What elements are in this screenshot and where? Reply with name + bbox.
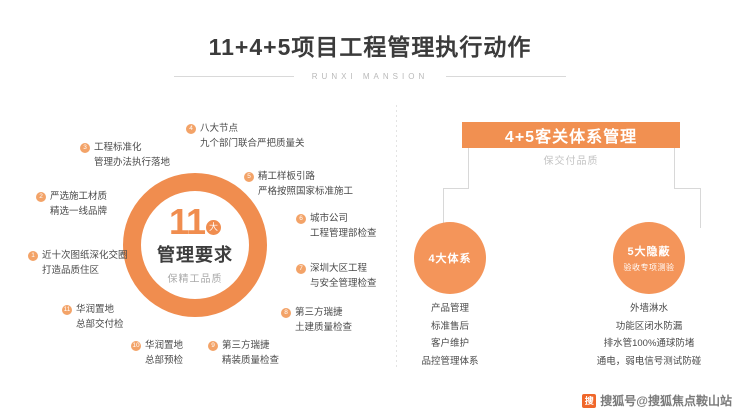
connector-left-horizontal <box>443 188 469 189</box>
item-badge-3: 3 <box>80 143 90 153</box>
item-line1-11: 华润置地 <box>76 303 114 318</box>
item-badge-8: 8 <box>281 308 291 318</box>
branch-list-2-item-3: 排水管100%通球防堵 <box>569 335 729 353</box>
item-badge-5: 5 <box>244 172 254 182</box>
item-badge-1: 1 <box>28 251 38 261</box>
callout-item-10: 10华润置地 总部预检 <box>131 339 183 368</box>
branch-list-1-item-3: 客户维护 <box>400 335 500 353</box>
item-line2-9: 精装质量检查 <box>208 354 279 369</box>
item-line2-8: 土建质量检查 <box>281 321 352 336</box>
subtitle-text: RUNXI MANSION <box>312 72 428 81</box>
branch-circle-2-line1: 5大隐蔽 <box>627 243 670 259</box>
item-line2-10: 总部预检 <box>131 354 183 369</box>
callout-item-5: 5精工样板引路 严格按照国家标准施工 <box>244 170 353 199</box>
item-line1-1: 近十次图纸深化交圈 <box>42 249 128 264</box>
item-line1-6: 城市公司 <box>310 212 348 227</box>
callout-item-6: 6城市公司 工程管理部检查 <box>296 212 377 241</box>
branch-list-2-item-2: 功能区闭水防漏 <box>569 318 729 336</box>
connector-right-drop <box>674 148 675 188</box>
item-badge-6: 6 <box>296 214 306 224</box>
callout-item-7: 7深圳大区工程 与安全管理检查 <box>296 262 377 291</box>
page-title: 11+4+5项目工程管理执行动作 <box>0 28 740 62</box>
item-line1-3: 工程标准化 <box>94 141 142 156</box>
right-panel-subtitle: 保交付品质 <box>462 152 680 167</box>
item-line2-5: 严格按照国家标准施工 <box>244 185 353 200</box>
item-badge-9: 9 <box>208 341 218 351</box>
ring-number: 11 <box>169 205 205 239</box>
watermark-text: 搜狐号@搜狐焦点鞍山站 <box>600 392 732 409</box>
callout-item-3: 3工程标准化 管理办法执行落地 <box>80 141 170 170</box>
right-panel-header: 4+5客关体系管理 <box>462 122 680 148</box>
subtitle-row: RUNXI MANSION <box>0 72 740 81</box>
branch-list-1-item-1: 产品管理 <box>400 300 500 318</box>
slide-canvas: 11+4+5项目工程管理执行动作 RUNXI MANSION 11 大 管理要求… <box>0 0 740 417</box>
item-line1-8: 第三方瑞捷 <box>295 306 343 321</box>
item-line1-5: 精工样板引路 <box>258 170 315 185</box>
item-badge-10: 10 <box>131 341 141 351</box>
item-badge-2: 2 <box>36 192 46 202</box>
branch-circle-1-line1: 4大体系 <box>428 250 471 266</box>
sohu-logo-icon: 搜 <box>582 394 596 408</box>
branch-circle-2-line2: 验收专项测验 <box>624 262 675 273</box>
ring-main-label: 管理要求 <box>157 241 233 267</box>
item-line1-10: 华润置地 <box>145 339 183 354</box>
item-line1-9: 第三方瑞捷 <box>222 339 270 354</box>
branch-circle-5-concealed: 5大隐蔽 验收专项测验 <box>613 222 685 294</box>
callout-item-9: 9第三方瑞捷 精装质量检查 <box>208 339 279 368</box>
callout-item-11: 11华润置地 总部交付检 <box>62 303 124 332</box>
connector-right-horizontal <box>674 188 700 189</box>
callout-item-4: 4八大节点 九个部门联合严把质量关 <box>186 122 305 151</box>
panel-divider <box>396 105 397 367</box>
item-line2-1: 打造品质住区 <box>28 264 128 279</box>
callout-item-8: 8第三方瑞捷 土建质量检查 <box>281 306 352 335</box>
item-line2-11: 总部交付检 <box>62 318 124 333</box>
branch-list-1-item-4: 品控管理体系 <box>400 353 500 371</box>
callout-item-2: 2严选施工材质 精选一线品牌 <box>36 190 107 219</box>
ring-sub-label: 保精工品质 <box>168 270 223 285</box>
item-badge-4: 4 <box>186 124 196 134</box>
item-line1-4: 八大节点 <box>200 122 238 137</box>
branch-list-2-item-4: 通电，弱电信号测试防碰 <box>569 353 729 371</box>
item-line2-6: 工程管理部检查 <box>296 227 377 242</box>
connector-right-elbow <box>700 188 701 228</box>
item-badge-11: 11 <box>62 305 72 315</box>
branch-circle-4-systems: 4大体系 <box>414 222 486 294</box>
connector-left-drop <box>468 148 469 188</box>
branch-list-1-item-2: 标准售后 <box>400 318 500 336</box>
branch-list-2: 外墙淋水 功能区闭水防漏 排水管100%通球防堵 通电，弱电信号测试防碰 <box>569 300 729 370</box>
callout-item-1: 1近十次图纸深化交圈 打造品质住区 <box>28 249 128 278</box>
item-line2-2: 精选一线品牌 <box>36 205 107 220</box>
branch-list-1: 产品管理 标准售后 客户维护 品控管理体系 <box>400 300 500 370</box>
item-line1-2: 严选施工材质 <box>50 190 107 205</box>
item-line1-7: 深圳大区工程 <box>310 262 367 277</box>
item-badge-7: 7 <box>296 264 306 274</box>
subtitle-rule-right <box>446 76 566 77</box>
ring-number-row: 11 大 <box>169 205 221 239</box>
item-line2-3: 管理办法执行落地 <box>80 156 170 171</box>
subtitle-rule-left <box>174 76 294 77</box>
ring-unit-badge: 大 <box>206 220 221 235</box>
branch-list-2-item-1: 外墙淋水 <box>569 300 729 318</box>
item-line2-4: 九个部门联合严把质量关 <box>186 137 305 152</box>
watermark: 搜 搜狐号@搜狐焦点鞍山站 <box>582 392 732 409</box>
item-line2-7: 与安全管理检查 <box>296 277 377 292</box>
